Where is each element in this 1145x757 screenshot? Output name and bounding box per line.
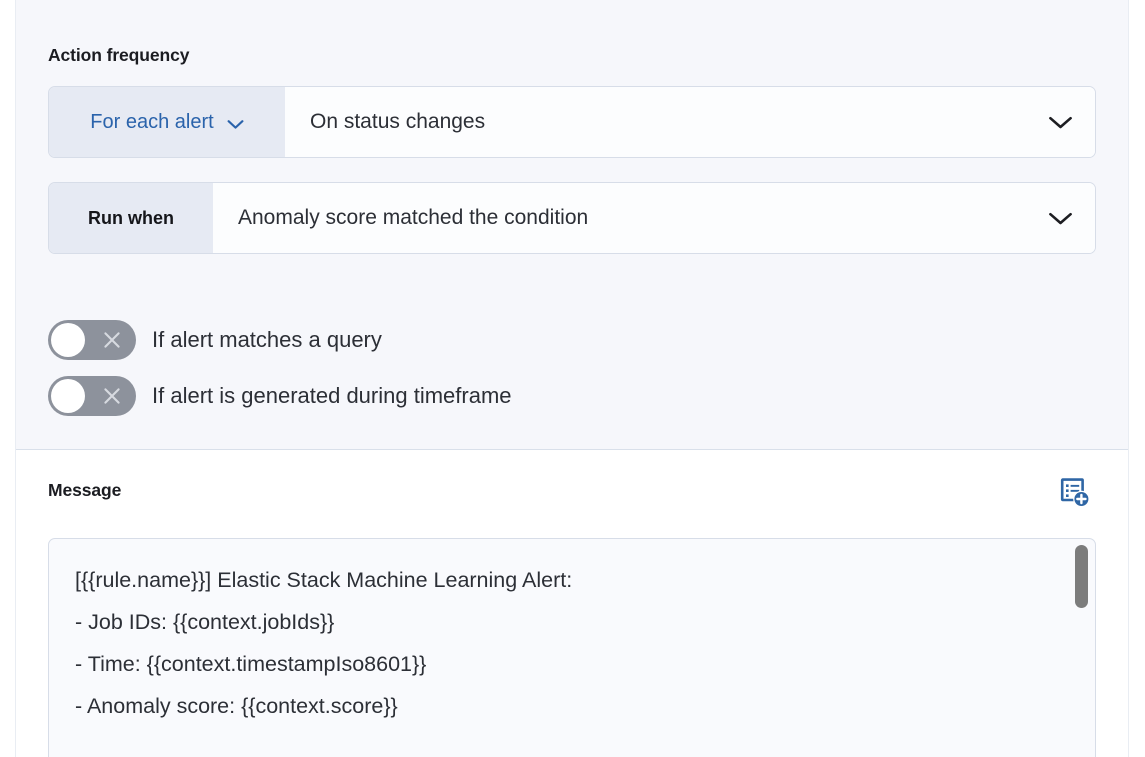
alert-matches-query-label: If alert matches a query [152, 327, 382, 353]
close-x-icon [102, 386, 122, 406]
for-each-alert-dropdown-button[interactable]: For each alert [49, 87, 285, 157]
message-scrollbar-thumb[interactable] [1075, 545, 1088, 608]
toggle-knob [51, 323, 85, 357]
action-panel: Action frequency For each alert On statu… [16, 0, 1128, 757]
chevron-down-icon [1048, 115, 1073, 130]
for-each-alert-label: For each alert [90, 111, 213, 134]
message-scrollbar[interactable] [1075, 545, 1088, 757]
status-change-select-value: On status changes [310, 110, 485, 134]
run-when-label: Run when [88, 208, 174, 229]
frequency-field-row: For each alert On status changes [48, 86, 1096, 158]
alert-timeframe-label: If alert is generated during timeframe [152, 383, 512, 409]
message-title: Message [48, 480, 121, 501]
add-variable-icon-button[interactable] [1055, 474, 1095, 514]
run-when-select[interactable]: Anomaly score matched the condition [213, 183, 1095, 253]
message-textarea[interactable]: [{{rule.name}}] Elastic Stack Machine Le… [48, 538, 1096, 757]
alert-timeframe-row: If alert is generated during timeframe [48, 376, 512, 416]
message-textarea-value: [{{rule.name}}] Elastic Stack Machine Le… [75, 559, 1055, 727]
action-frequency-title: Action frequency [48, 45, 189, 66]
close-x-icon [102, 330, 122, 350]
message-section: Message [16, 450, 1128, 757]
alert-timeframe-toggle[interactable] [48, 376, 136, 416]
run-when-label-prepend: Run when [49, 183, 213, 253]
screen: Action frequency For each alert On statu… [0, 0, 1145, 757]
alert-matches-query-row: If alert matches a query [48, 320, 382, 360]
run-when-select-value: Anomaly score matched the condition [238, 206, 588, 230]
add-variable-icon [1059, 477, 1091, 512]
chevron-down-icon [227, 117, 244, 128]
toggle-knob [51, 379, 85, 413]
status-change-select[interactable]: On status changes [285, 87, 1095, 157]
chevron-down-icon [1048, 211, 1073, 226]
action-frequency-section: Action frequency For each alert On statu… [16, 0, 1128, 450]
alert-matches-query-toggle[interactable] [48, 320, 136, 360]
run-when-field-row: Run when Anomaly score matched the condi… [48, 182, 1096, 254]
